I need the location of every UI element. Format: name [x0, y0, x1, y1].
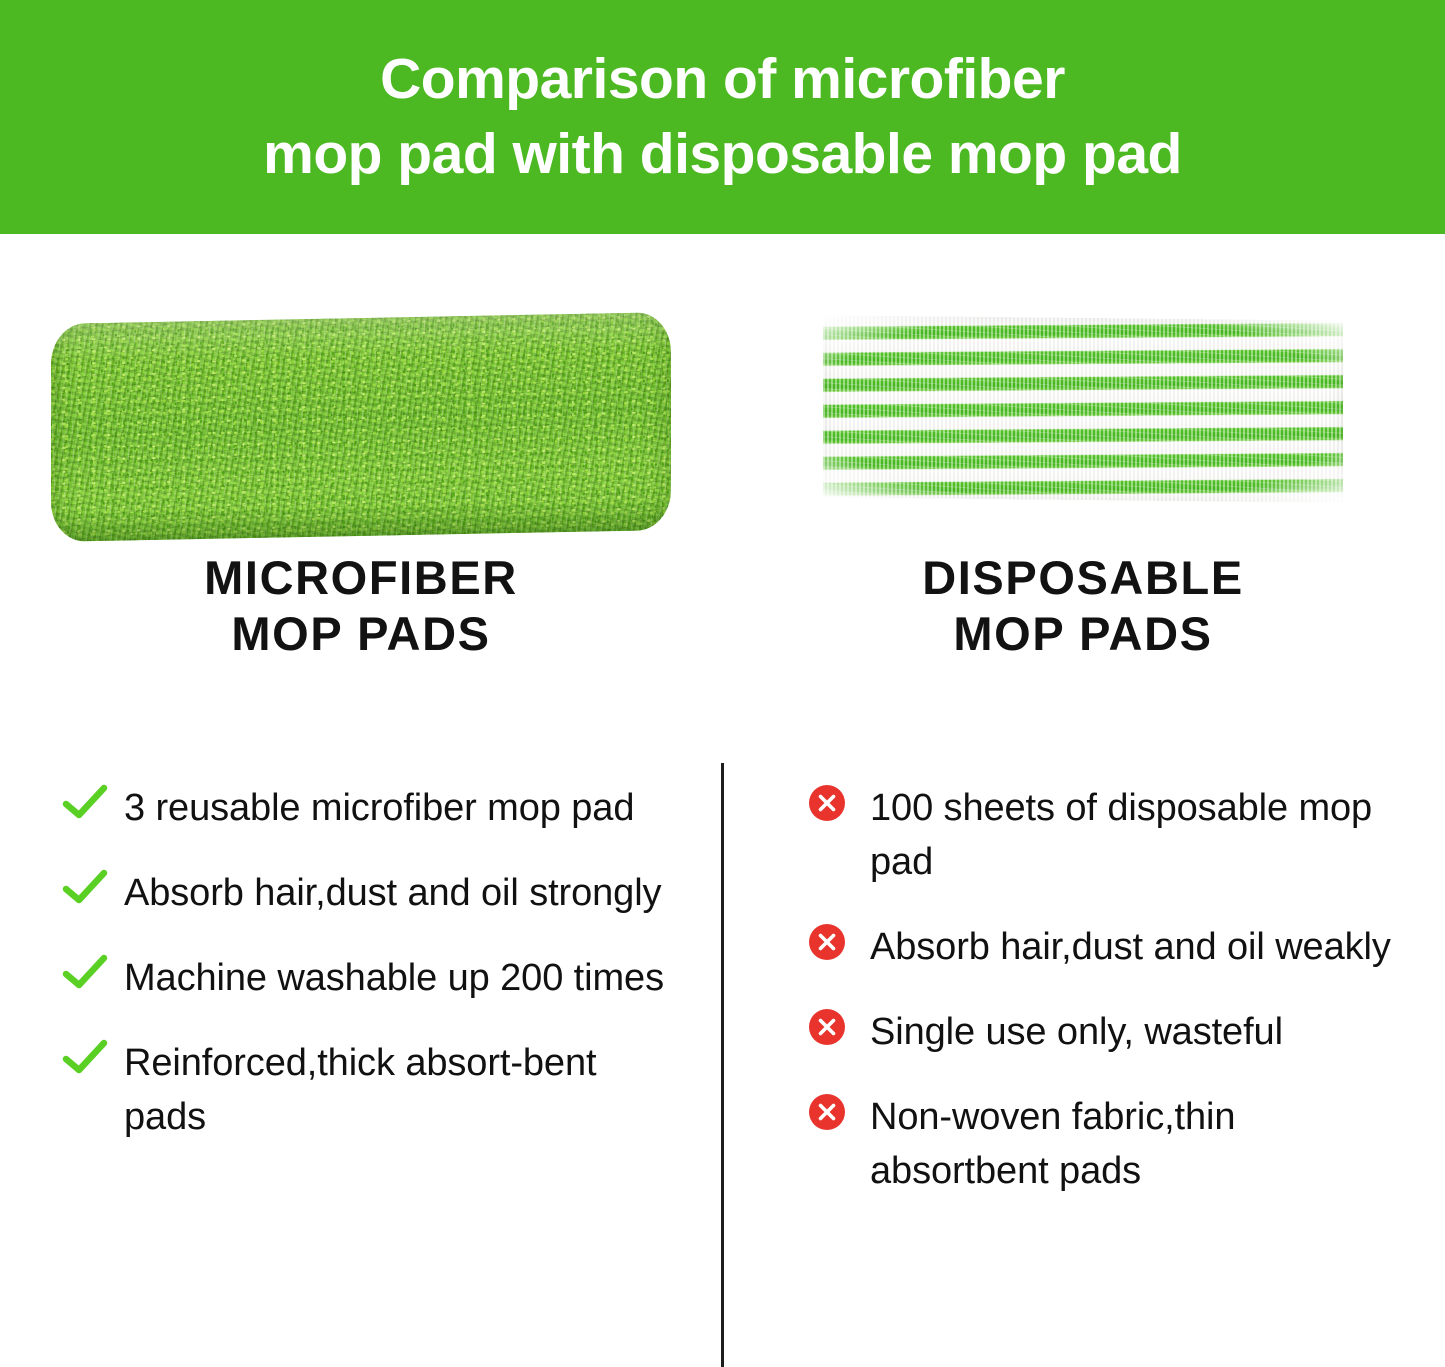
disposable-image-wrap — [722, 318, 1444, 500]
check-icon — [62, 952, 108, 994]
header-banner: Comparison of microfiber mop pad with di… — [0, 0, 1445, 234]
cross-icon — [808, 921, 848, 963]
feature-text: Absorb hair,dust and oil strongly — [124, 867, 661, 921]
list-item: 100 sheets of disposable mop pad — [722, 782, 1444, 890]
product-title-microfiber: MICROFIBER MOP PADS — [0, 550, 722, 663]
product-column-microfiber: MICROFIBER MOP PADS — [0, 234, 722, 694]
feature-text: Reinforced,thick absort-bent pads — [124, 1037, 682, 1145]
product-title-disposable: DISPOSABLE MOP PADS — [722, 550, 1444, 663]
list-item: Machine washable up 200 times — [0, 952, 722, 1006]
feature-text: 3 reusable microfiber mop pad — [124, 782, 634, 836]
product-column-disposable: DISPOSABLE MOP PADS — [722, 234, 1444, 694]
list-item: Absorb hair,dust and oil weakly — [722, 921, 1444, 975]
check-icon — [62, 867, 108, 909]
list-item: Non-woven fabric,thin absortbent pads — [722, 1091, 1444, 1199]
features-area: 3 reusable microfiber mop pad Absorb hai… — [0, 694, 1445, 1367]
check-icon — [62, 782, 108, 824]
feature-text: Machine washable up 200 times — [124, 952, 664, 1006]
product-comparison-row: MICROFIBER MOP PADS DISPOSABLE MOP PADS — [0, 234, 1445, 694]
feature-text: Non-woven fabric,thin absortbent pads — [870, 1091, 1410, 1199]
feature-text: Single use only, wasteful — [870, 1006, 1283, 1060]
list-item: Absorb hair,dust and oil strongly — [0, 867, 722, 921]
list-item: Reinforced,thick absort-bent pads — [0, 1037, 722, 1145]
cross-icon — [808, 1006, 848, 1048]
microfiber-image-wrap — [0, 318, 722, 536]
cross-icon — [808, 1091, 848, 1133]
check-icon — [62, 1037, 108, 1079]
list-item: Single use only, wasteful — [722, 1006, 1444, 1060]
feature-text: Absorb hair,dust and oil weakly — [870, 921, 1391, 975]
feature-list-microfiber: 3 reusable microfiber mop pad Absorb hai… — [0, 694, 722, 1145]
feature-text: 100 sheets of disposable mop pad — [870, 782, 1410, 890]
disposable-mop-pad-photo — [823, 315, 1343, 502]
page-title: Comparison of microfiber mop pad with di… — [223, 42, 1222, 192]
microfiber-mop-pad-photo — [51, 312, 671, 542]
cross-icon — [808, 782, 848, 824]
list-item: 3 reusable microfiber mop pad — [0, 782, 722, 836]
feature-list-disposable: 100 sheets of disposable mop pad Absorb … — [722, 694, 1444, 1199]
feature-column-microfiber: 3 reusable microfiber mop pad Absorb hai… — [0, 694, 722, 1176]
feature-column-disposable: 100 sheets of disposable mop pad Absorb … — [722, 694, 1444, 1230]
